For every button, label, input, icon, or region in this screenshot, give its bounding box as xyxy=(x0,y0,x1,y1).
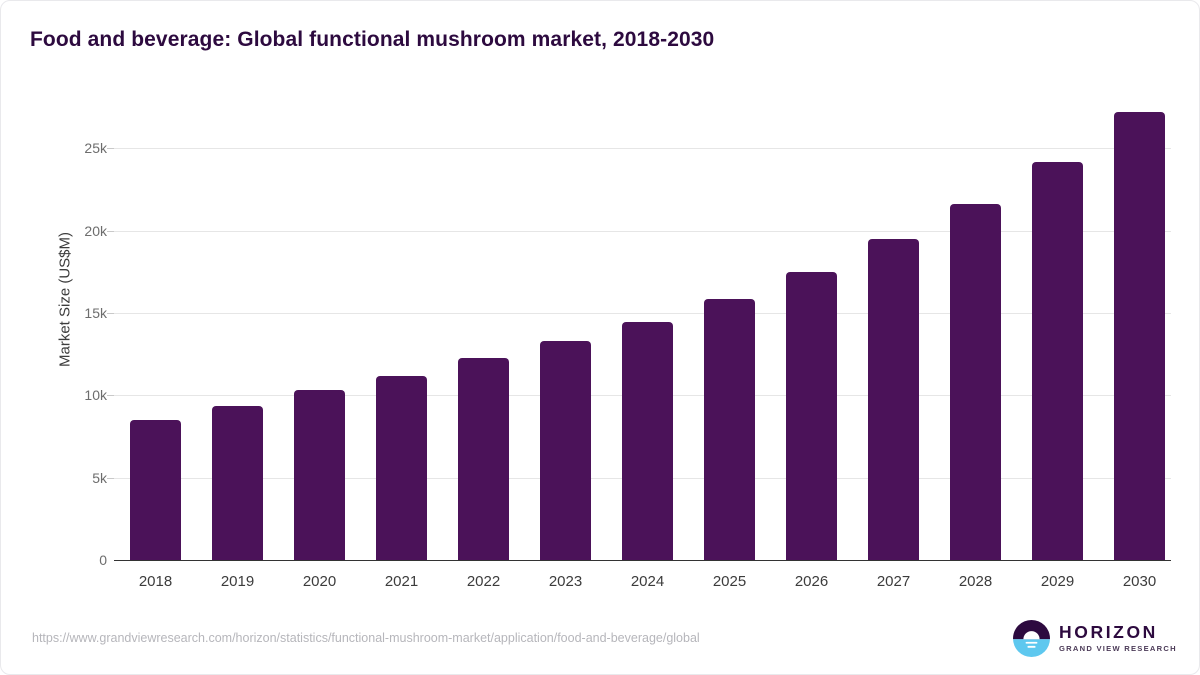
logo-name: HORIZON xyxy=(1059,624,1177,642)
x-axis-label-2030: 2030 xyxy=(1123,573,1156,590)
gridline xyxy=(114,313,1171,314)
y-axis-tick-label: 20k xyxy=(47,223,107,239)
gridline xyxy=(114,148,1171,149)
y-axis-tick-mark xyxy=(107,395,114,396)
y-axis-tick-mark xyxy=(107,148,114,149)
horizon-sun-circle-icon xyxy=(1013,620,1050,657)
x-axis-label-2023: 2023 xyxy=(549,573,582,590)
y-axis-tick-label: 25k xyxy=(47,140,107,156)
x-axis-label-2027: 2027 xyxy=(877,573,910,590)
y-axis-tick-mark xyxy=(107,231,114,232)
bar-2030[interactable] xyxy=(1114,112,1165,560)
bar-2028[interactable] xyxy=(950,204,1001,560)
x-axis-label-2024: 2024 xyxy=(631,573,664,590)
bar-2020[interactable] xyxy=(294,390,345,560)
horizon-logo[interactable]: HORIZON GRAND VIEW RESEARCH xyxy=(1013,620,1177,657)
y-axis-tick-label: 5k xyxy=(47,470,107,486)
bar-2022[interactable] xyxy=(458,358,509,560)
x-axis-label-2026: 2026 xyxy=(795,573,828,590)
bar-2018[interactable] xyxy=(130,420,181,560)
x-axis-label-2029: 2029 xyxy=(1041,573,1074,590)
bar-2029[interactable] xyxy=(1032,162,1083,560)
y-axis-tick-label: 0 xyxy=(47,552,107,568)
bar-2024[interactable] xyxy=(622,322,673,560)
x-axis-label-2020: 2020 xyxy=(303,573,336,590)
logo-subtitle: GRAND VIEW RESEARCH xyxy=(1059,645,1177,653)
x-axis-baseline xyxy=(114,560,1171,561)
x-axis-label-2022: 2022 xyxy=(467,573,500,590)
x-axis-label-2018: 2018 xyxy=(139,573,172,590)
source-url[interactable]: https://www.grandviewresearch.com/horizo… xyxy=(32,631,700,645)
y-axis-tick-label: 15k xyxy=(47,305,107,321)
y-axis-tick-mark xyxy=(107,478,114,479)
y-axis-tick-mark xyxy=(107,313,114,314)
x-axis-label-2025: 2025 xyxy=(713,573,746,590)
gridline xyxy=(114,231,1171,232)
x-axis-label-2028: 2028 xyxy=(959,573,992,590)
bar-2027[interactable] xyxy=(868,239,919,560)
bar-2025[interactable] xyxy=(704,299,755,560)
bar-2023[interactable] xyxy=(540,341,591,560)
y-axis-tick-label: 10k xyxy=(47,387,107,403)
chart-page: Food and beverage: Global functional mus… xyxy=(0,0,1200,675)
bar-2021[interactable] xyxy=(376,376,427,560)
x-axis-label-2021: 2021 xyxy=(385,573,418,590)
logo-wordmark: HORIZON GRAND VIEW RESEARCH xyxy=(1059,624,1177,652)
bar-2026[interactable] xyxy=(786,272,837,560)
chart-plot-area: Market Size (US$M) 05k10k15k20k25k 20182… xyxy=(1,1,1200,675)
x-axis-label-2019: 2019 xyxy=(221,573,254,590)
bar-2019[interactable] xyxy=(212,406,263,560)
